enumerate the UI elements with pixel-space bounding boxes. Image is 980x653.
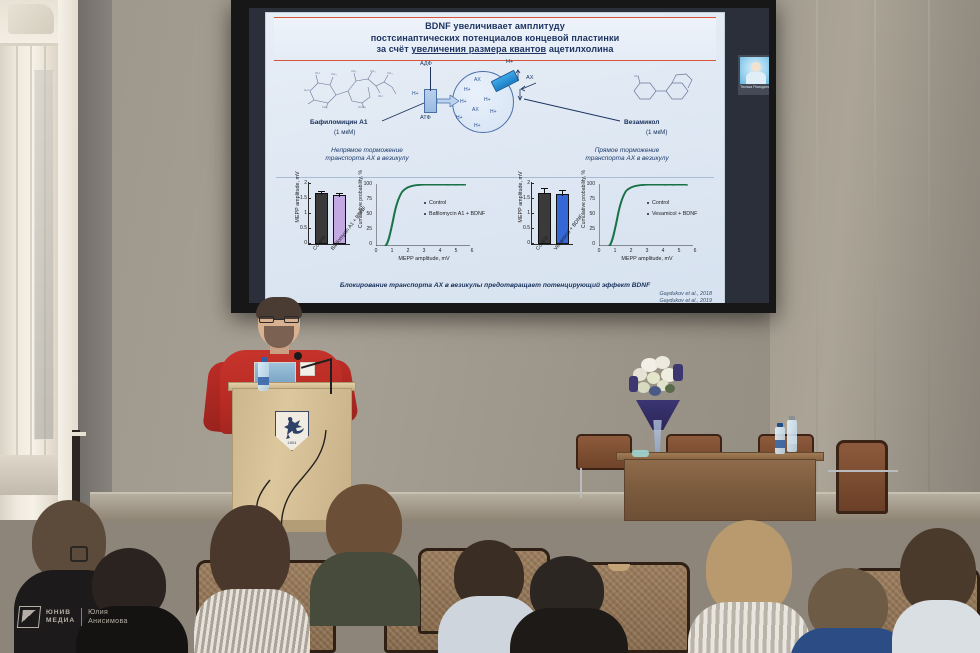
watermark-logo-icon (17, 606, 41, 628)
bar-ytick-left-0: 0 (294, 240, 307, 246)
legend-label-right-0: Control (652, 200, 669, 207)
citation-1: Gaydukov et al., 2018 (266, 291, 712, 298)
side-chair-armrest (828, 470, 898, 472)
cum-ytick-left-1: 25 (356, 226, 372, 232)
watermark-brand: ЮНИВ МЕДИА (46, 609, 75, 626)
audience-person-6 (510, 556, 626, 653)
cum-xtick-left-2: 2 (404, 248, 412, 254)
slide-title: BDNF увеличивает амплитуду постсинаптиче… (274, 17, 716, 61)
face-mask (632, 450, 649, 457)
chart-panel-vesamicol: MEPP amplitude, mV 2 1.5 1 0.5 0 (495, 180, 718, 280)
watermark-author-line-2: Анисимова (88, 617, 128, 626)
pilaster-ornament (8, 4, 54, 34)
table-water-bottle-2 (787, 420, 797, 452)
bar-ytick-left-2: 1 (294, 210, 307, 216)
bar-chart-vesamicol: MEPP amplitude, mV 2 1.5 1 0.5 0 (511, 180, 575, 256)
speaker-beard (264, 326, 294, 348)
bar-ytick-left-1: 0.5 (294, 225, 307, 231)
bar-chart-bafilomycin: MEPP amplitude, mV 2 1.5 1 0.5 0 (288, 180, 352, 256)
cum-legend-right: Control Vesamicol + BDNF (647, 200, 709, 218)
table-water-bottle-1 (775, 427, 785, 454)
cum-xtick-right-2: 2 (627, 248, 635, 254)
cum-ytick-right-2: 50 (579, 211, 595, 217)
slide-title-line-3: за счёт увеличения размера квантов ацети… (278, 44, 712, 56)
chart-panel-bafilomycin: MEPP amplitude, mV 2 1.5 1 0.5 0 (272, 180, 495, 280)
microphone-stand (330, 360, 332, 394)
cum-legend-left: Control Bafilomycin A1 + BDNF (424, 200, 486, 218)
watermark-author: Юлия Анисимова (88, 608, 128, 626)
participant-video-tile (740, 57, 769, 84)
bottle-cap (789, 416, 795, 420)
bar-ytick-right-4: 2 (517, 180, 530, 186)
bottle-cap (777, 423, 783, 427)
bottle-label (787, 436, 797, 444)
cum-xtick-right-6: 6 (691, 248, 699, 254)
legend-dot-left-0 (424, 202, 426, 204)
cum-ytick-right-3: 75 (579, 196, 595, 202)
vesamicol-dose: (1 мкМ) (646, 129, 667, 136)
cum-ytick-left-2: 50 (356, 211, 372, 217)
bar-ytick-right-1: 0.5 (517, 225, 530, 231)
cum-xtick-left-6: 6 (468, 248, 476, 254)
cum-xtick-right-1: 1 (611, 248, 619, 254)
bar-ytick-left-3: 1.5 (294, 195, 307, 201)
bar-ytick-right-0: 0 (517, 240, 530, 246)
title-line3-pre: за счёт (376, 44, 411, 54)
cum-x-axis-title-left: MEPP amplitude, mV (374, 256, 474, 262)
title-line3-underlined: увеличения размера квантов (411, 44, 546, 54)
cum-ytick-right-0: 0 (579, 241, 595, 247)
bar-ytick-right-2: 1 (517, 210, 530, 216)
door-glass-panel (34, 70, 54, 440)
projection-screen-frame: BDNF увеличивает амплитуду постсинаптиче… (231, 0, 776, 313)
audience-person-9 (892, 528, 980, 653)
cum-xtick-right-0: 0 (595, 248, 603, 254)
bafilomycin-label: Бафиломицин А1 (310, 119, 368, 126)
slide-conclusion: Блокирование транспорта АХ в везикулы пр… (276, 282, 714, 289)
door-handle (72, 432, 86, 436)
side-chair-right (836, 440, 888, 514)
bottle-cap (261, 357, 267, 362)
audience-person-3 (190, 505, 314, 653)
participant-name-label: Тюлька Ромодина (740, 85, 769, 89)
cum-x-axis-title-right: MEPP amplitude, mV (597, 256, 697, 262)
audience-person-4 (310, 484, 420, 624)
legend-dot-right-0 (647, 202, 649, 204)
person-head (210, 505, 290, 601)
cumulative-chart-vesamicol: Cumulative probability, % 100 75 50 25 0 (577, 180, 709, 268)
slide-title-line-1: BDNF увеличивает амплитуду (278, 21, 712, 33)
watermark-brand-line-1: ЮНИВ (46, 609, 75, 617)
legend-dot-right-1 (647, 213, 649, 215)
vesicle-transport-diagram: H₃COHCH₃ CH₃CH₃CH₃ CH₃OCH₃OH (274, 63, 716, 175)
person-shoulders (194, 589, 310, 653)
results-charts: MEPP amplitude, mV 2 1.5 1 0.5 0 (272, 180, 718, 280)
person-shoulders (310, 552, 420, 626)
cum-xtick-right-5: 5 (675, 248, 683, 254)
bottle-label (258, 377, 269, 385)
speaker-water-bottle (258, 362, 269, 391)
presentation-slide: BDNF увеличивает амплитуду постсинаптиче… (265, 12, 725, 303)
head-table (624, 459, 816, 521)
right-mechanism-caption: Прямое торможение транспорта АХ в везику… (562, 147, 692, 164)
legend-label-left-1: Bafilomycin A1 + BDNF (429, 211, 485, 218)
audience-person-2 (76, 548, 186, 653)
slide-title-line-2: постсинаптических потенциалов концевой п… (278, 33, 712, 45)
slide-divider (276, 177, 714, 178)
cum-xtick-right-4: 4 (659, 248, 667, 254)
cum-ytick-left-4: 100 (356, 181, 372, 187)
cum-xtick-left-4: 4 (436, 248, 444, 254)
bottle-label (775, 440, 785, 448)
cum-xtick-left-3: 3 (420, 248, 428, 254)
person-shoulders (892, 600, 980, 653)
bar-ytick-right-3: 1.5 (517, 195, 530, 201)
cumulative-chart-bafilomycin: Cumulative probability, % 100 75 50 25 0 (354, 180, 486, 268)
cum-ytick-right-4: 100 (579, 181, 595, 187)
title-line3-post: ацетилхолина (546, 44, 613, 54)
legend-label-left-0: Control (429, 200, 446, 207)
bar-ytick-left-4: 2 (294, 180, 307, 186)
microphone-head-icon (294, 352, 302, 360)
participant-head (751, 62, 761, 72)
watermark-author-line-1: Юлия (88, 608, 128, 617)
video-conference-thumbnail[interactable]: Тюлька Ромодина (738, 55, 769, 95)
speaker-glasses-icon (259, 316, 299, 323)
legend-label-right-1: Vesamicol + BDNF (652, 211, 697, 218)
flower-bouquet (627, 356, 689, 406)
cum-xtick-right-3: 3 (643, 248, 651, 254)
cum-ytick-left-3: 75 (356, 196, 372, 202)
cum-ytick-left-0: 0 (356, 241, 372, 247)
person-shoulders (510, 608, 628, 653)
photo-watermark: ЮНИВ МЕДИА Юлия Анисимова (18, 606, 128, 628)
left-mechanism-caption: Непрямое торможение транспорта АХ в вези… (302, 147, 432, 164)
legend-dot-left-1 (424, 213, 426, 215)
cum-xtick-left-0: 0 (372, 248, 380, 254)
lecture-hall-photo: BDNF увеличивает амплитуду постсинаптиче… (0, 0, 980, 653)
audience-person-8 (790, 568, 908, 653)
watermark-separator (81, 608, 82, 626)
vesamicol-label: Везамикол (624, 119, 659, 126)
cum-xtick-left-5: 5 (452, 248, 460, 254)
projection-screen-surface: BDNF увеличивает амплитуду постсинаптиче… (249, 8, 769, 303)
cum-ytick-right-1: 25 (579, 226, 595, 232)
participant-body (746, 72, 766, 84)
bafilomycin-dose: (1 мкМ) (334, 129, 355, 136)
cum-xtick-left-1: 1 (388, 248, 396, 254)
watermark-brand-line-2: МЕДИА (46, 617, 75, 625)
